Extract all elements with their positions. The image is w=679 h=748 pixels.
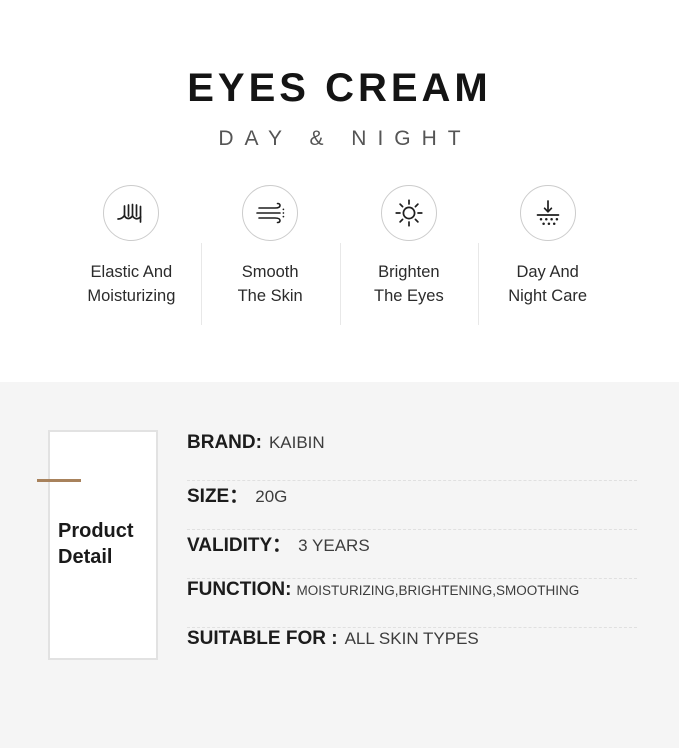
spec-label: SIZE： xyxy=(187,481,248,508)
feature-item-day-night-care: Day And Night Care xyxy=(478,185,617,309)
hero-section: EYES CREAM DAY & NIGHT E xyxy=(0,0,679,382)
feature-list: Elastic And Moisturizing Smoo xyxy=(0,185,679,309)
page-title: EYES CREAM xyxy=(0,0,679,108)
feature-item-brighten-eyes: Brighten The Eyes xyxy=(340,185,479,309)
spec-value: 3 YEARS xyxy=(298,536,370,556)
spec-value: MOISTURIZING,BRIGHTENING,SMOOTHING xyxy=(296,583,579,598)
spec-row-suitable-for: SUITABLE FOR : ALL SKIN TYPES xyxy=(187,628,637,676)
smooth-lines-icon xyxy=(242,185,298,241)
spec-value: ALL SKIN TYPES xyxy=(345,629,479,649)
spec-row-size: SIZE： 20G xyxy=(187,481,637,530)
spec-label: FUNCTION: xyxy=(187,579,291,601)
page-subtitle: DAY & NIGHT xyxy=(0,128,679,149)
feature-label: Day And Night Care xyxy=(508,261,587,309)
spec-table: BRAND: KAIBIN SIZE： 20G VALIDITY： 3 YEAR… xyxy=(187,430,637,748)
spec-value: 20G xyxy=(255,487,287,507)
feature-item-elastic-moisturizing: Elastic And Moisturizing xyxy=(62,185,201,309)
feature-label: Smooth The Skin xyxy=(238,261,303,309)
skin-elasticity-icon xyxy=(103,185,159,241)
spec-value: KAIBIN xyxy=(269,433,325,453)
spec-label: BRAND: xyxy=(187,432,262,454)
spec-row-function: FUNCTION: MOISTURIZING,BRIGHTENING,SMOOT… xyxy=(187,579,637,628)
spec-label: VALIDITY： xyxy=(187,530,291,557)
feature-label: Brighten The Eyes xyxy=(374,261,444,309)
product-detail-badge: Product Detail xyxy=(48,430,158,660)
sun-brightness-icon xyxy=(381,185,437,241)
spec-row-brand: BRAND: KAIBIN xyxy=(187,432,637,481)
spec-label: SUITABLE FOR : xyxy=(187,628,338,650)
absorption-drops-icon xyxy=(520,185,576,241)
spec-row-validity: VALIDITY： 3 YEARS xyxy=(187,530,637,579)
badge-accent-line xyxy=(37,479,81,482)
badge-label: Product Detail xyxy=(58,519,134,570)
product-detail-section: Product Detail BRAND: KAIBIN SIZE： 20G V… xyxy=(0,382,679,748)
feature-item-smooth-skin: Smooth The Skin xyxy=(201,185,340,309)
feature-label: Elastic And Moisturizing xyxy=(87,261,175,309)
